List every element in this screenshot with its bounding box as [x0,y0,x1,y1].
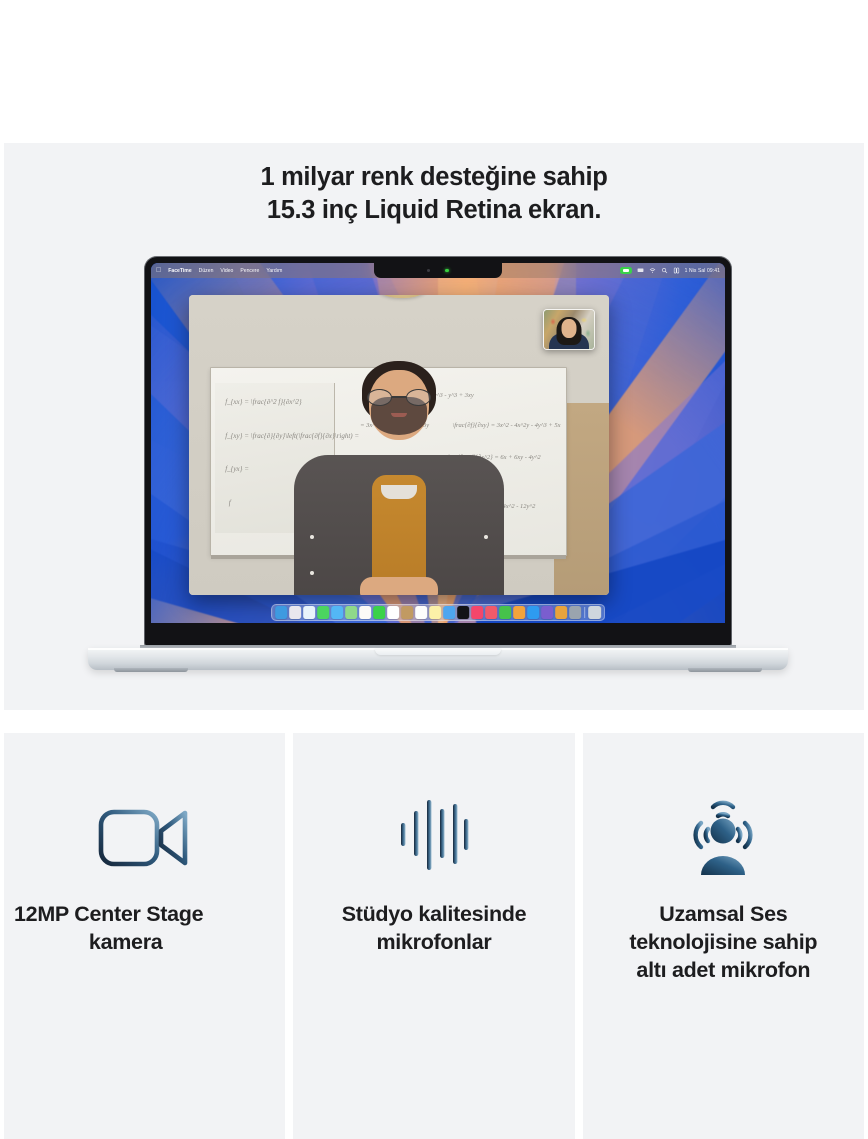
laptop-foot [688,668,762,672]
dock-item-messages[interactable] [317,606,329,618]
feature-title-line-2: kamera [14,929,277,957]
dock-item-photos[interactable] [359,606,371,618]
participant-collar [381,485,417,499]
dock-item-numbers[interactable] [499,606,511,618]
feature-card-title: Stüdyo kalitesinde mikrofonlar [334,901,535,957]
feature-card-microphones: Stüdyo kalitesinde mikrofonlar [293,733,574,1139]
menu-item-facetime[interactable]: FaceTime [168,268,191,274]
laptop-screen:  FaceTime Düzen Video Pencere Yardım [151,263,725,623]
video-camera-icon [97,805,193,871]
control-center-icon[interactable] [673,267,680,274]
participant-mouth [391,413,407,417]
feature-title-line-1: 12MP Center Stage [14,902,203,926]
equation-text: f [229,499,231,507]
pip-participant-face [562,319,577,338]
classroom-scene: f_{xx} = \frac{∂^2 f}{∂x^2} f_{xy} = \fr… [189,295,609,595]
spatial-audio-person-icon [677,797,769,879]
dock-item-safari[interactable] [303,606,315,618]
menu-item-pencere[interactable]: Pencere [240,268,259,274]
laptop-foot [114,668,188,672]
dock-item-calendar[interactable] [387,606,399,618]
page-title: 1 milyar renk desteğine sahip 15.3 inç L… [4,161,864,226]
feature-card-spatial-audio: Uzamsal Ses teknolojisine sahip altı ade… [583,733,864,1139]
camera-in-use-icon[interactable] [620,267,632,275]
product-page: 1 milyar renk desteğine sahip 15.3 inç L… [0,0,868,1139]
feature-cards: 12MP Center Stage kamera [4,733,864,1139]
menu-item-yardim[interactable]: Yardım [266,268,282,274]
dock-item-news[interactable] [485,606,497,618]
feature-card-title: 12MP Center Stage kamera [4,901,285,957]
menu-bar-status-area: 1 Nis Sal 09:41 [620,267,720,275]
dock-item-podcasts[interactable] [541,606,553,618]
jacket-pocket-button [484,535,488,539]
front-camera-icon [427,269,430,272]
feature-title-line-3: altı adet mikrofon [636,958,810,982]
participant-hands [360,577,438,595]
dock-item-contacts[interactable] [401,606,413,618]
dock-item-downloads-stack[interactable] [588,606,600,618]
macbook-air-device:  FaceTime Düzen Video Pencere Yardım [88,256,788,696]
dock-item-freeform[interactable] [443,606,455,618]
facetime-window[interactable]: f_{xx} = \frac{∂^2 f}{∂x^2} f_{xy} = \fr… [189,295,609,595]
dock-item-keynote[interactable] [555,606,567,618]
spatial-audio-icon-wrap [677,779,769,897]
jacket-button [310,535,314,539]
menu-bar-clock[interactable]: 1 Nis Sal 09:41 [685,268,720,274]
dock[interactable] [271,604,605,621]
equation-text: f_{yx} = [225,465,249,473]
camera-icon-wrap [97,779,193,897]
feature-title-line-1: Uzamsal Ses [659,902,787,926]
jacket-button [310,571,314,575]
dock-separator [584,607,585,618]
laptop-base-front-notch [375,648,501,655]
hero-heading-line-2: 15.3 inç Liquid Retina ekran. [267,196,601,224]
dock-item-system-settings[interactable] [569,606,581,618]
wall-clock-icon [374,295,430,298]
audio-waveform-icon [397,797,471,879]
feature-card-title: Uzamsal Ses teknolojisine sahip altı ade… [625,901,821,985]
spotlight-search-icon[interactable] [661,267,668,274]
hero-section: 1 milyar renk desteğine sahip 15.3 inç L… [4,143,864,710]
dock-item-facetime[interactable] [373,606,385,618]
dock-item-mail[interactable] [331,606,343,618]
apple-logo-icon[interactable]:  [156,267,161,274]
menu-item-duzen[interactable]: Düzen [199,268,214,274]
menu-item-video[interactable]: Video [220,268,233,274]
laptop-lid:  FaceTime Düzen Video Pencere Yardım [144,256,732,647]
feature-card-camera: 12MP Center Stage kamera [4,733,285,1139]
dock-item-finder[interactable] [275,606,287,618]
dock-item-notes[interactable] [429,606,441,618]
waveform-icon-wrap [397,779,471,897]
hero-heading-line-1: 1 milyar renk desteğine sahip [261,163,608,191]
feature-title-line-2: mikrofonlar [376,930,491,954]
picture-in-picture-video[interactable] [543,309,595,350]
wifi-icon[interactable] [649,267,656,274]
dock-item-apple-tv[interactable] [457,606,469,618]
main-participant-video [252,361,546,595]
participant-glasses [367,389,431,406]
feature-title-line-1: Stüdyo kalitesinde [342,902,527,926]
display-notch [374,263,502,278]
feature-title-line-2: teknolojisine sahip [629,930,817,954]
dock-item-launchpad[interactable] [289,606,301,618]
dock-item-reminders[interactable] [415,606,427,618]
dock-item-maps[interactable] [345,606,357,618]
green-camera-indicator [445,269,449,273]
dock-item-music[interactable] [471,606,483,618]
dock-item-app-store[interactable] [527,606,539,618]
dock-item-pages[interactable] [513,606,525,618]
screen-mirroring-icon[interactable] [637,267,644,274]
